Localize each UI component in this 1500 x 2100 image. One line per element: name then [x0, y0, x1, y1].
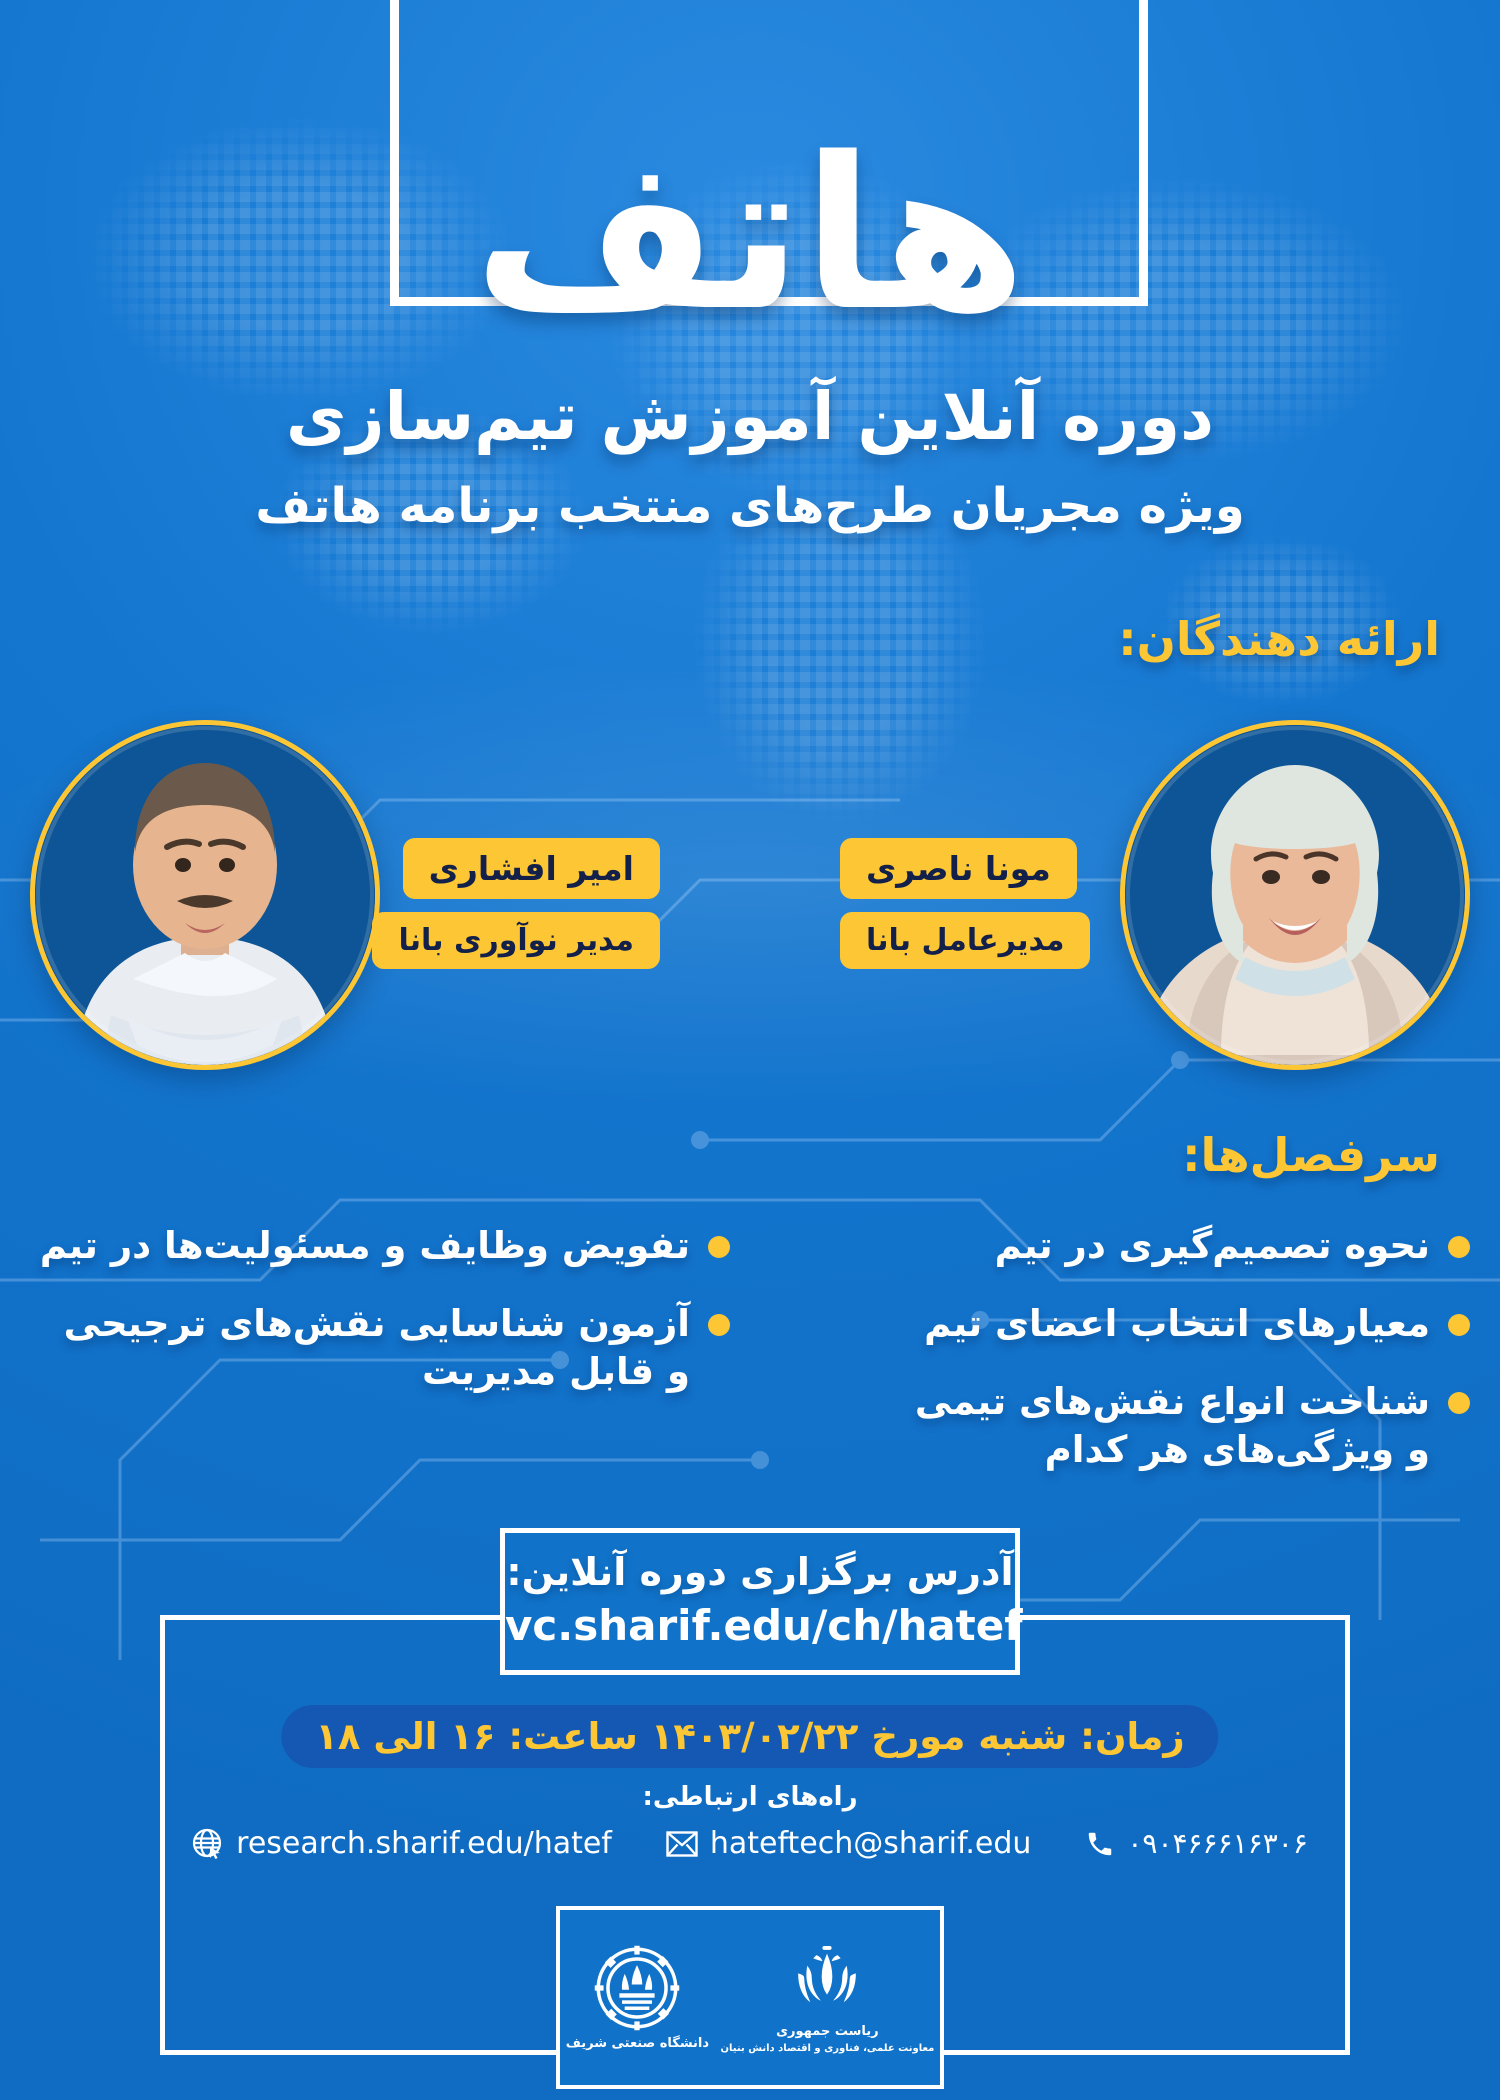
bullet-dot-icon [1448, 1314, 1470, 1336]
contact-section-label: راه‌های ارتباطی: [0, 1782, 1500, 1812]
topics-column-right: نحوه تصمیم‌گیری در تیم معیارهای انتخاب ا… [770, 1222, 1470, 1504]
avatar [30, 720, 380, 1070]
sharif-university-icon [593, 1944, 681, 2032]
topic-text: آزمون شناسایی نقش‌های ترجیحیو قابل مدیری… [64, 1300, 690, 1396]
sharif-caption: دانشگاه صنعتی شریف [566, 2036, 709, 2051]
topic-text: تفویض وظایف و مسئولیت‌ها در تیم [40, 1222, 690, 1270]
phone-icon [1085, 1829, 1115, 1859]
online-address-box: آدرس برگزاری دوره آنلاین: vc.sharif.edu/… [500, 1528, 1020, 1675]
presenter-role: مدیر نوآوری بانا [372, 912, 660, 969]
topic-text: شناخت انواع نقش‌های تیمیو ویژگی‌های هر ک… [915, 1378, 1430, 1474]
presenter-badges: مونا ناصری مدیرعامل بانا [840, 838, 1140, 982]
logo-sharif-university: دانشگاه صنعتی شریف [566, 1944, 709, 2051]
contact-website[interactable]: research.sharif.edu/hatef [192, 1826, 612, 1861]
presenter-name: مونا ناصری [840, 838, 1077, 899]
envelope-icon [666, 1831, 698, 1857]
topic-text: معیارهای انتخاب اعضای تیم [924, 1300, 1430, 1348]
bullet-dot-icon [708, 1236, 730, 1258]
vice-presidency-caption-2: معاونت علمی، فناوری و اقتصاد دانش بنیان [721, 2043, 935, 2054]
email-address: hateftech@sharif.edu [710, 1826, 1032, 1861]
bullet-dot-icon [1448, 1236, 1470, 1258]
poster-title-primary: دوره آنلاین آموزش تیم‌سازی [0, 378, 1500, 456]
presenter-card-mona-naseri: مونا ناصری مدیرعامل بانا [830, 720, 1470, 1080]
presenter-role: مدیرعامل بانا [840, 912, 1090, 969]
topic-text: نحوه تصمیم‌گیری در تیم [995, 1222, 1430, 1270]
bullet-dot-icon [1448, 1392, 1470, 1414]
vice-presidency-caption-1: ریاست جمهوری [776, 2024, 879, 2039]
poster-header: هاتف دوره آنلاین آموزش تیم‌سازی ویژه مجر… [0, 0, 1500, 600]
globe-icon [192, 1828, 224, 1860]
presenter-photo-icon [1125, 725, 1465, 1065]
contact-row: ۰۹۰۴۶۶۶۱۶۳۰۶ hateftech@sharif.edu resear… [0, 1826, 1500, 1861]
poster-title-secondary: ویژه مجریان طرح‌های منتخب برنامه هاتف [0, 478, 1500, 536]
list-item: شناخت انواع نقش‌های تیمیو ویژگی‌های هر ک… [770, 1378, 1470, 1474]
presenter-photo-icon [35, 725, 375, 1065]
list-item: معیارهای انتخاب اعضای تیم [770, 1300, 1470, 1348]
list-item: آزمون شناسایی نقش‌های ترجیحیو قابل مدیری… [30, 1300, 730, 1396]
logo-vice-presidency: ریاست جمهوری معاونت علمی، فناوری و اقتصا… [721, 1942, 935, 2054]
online-address-label: آدرس برگزاری دوره آنلاین: [505, 1549, 1015, 1597]
topics-lists: نحوه تصمیم‌گیری در تیم معیارهای انتخاب ا… [30, 1222, 1470, 1504]
website-url: research.sharif.edu/hatef [236, 1826, 612, 1861]
schedule-badge: زمان: شنبه مورخ ۱۴۰۳/۰۲/۲۲ ساعت: ۱۶ الی … [281, 1705, 1218, 1768]
list-item: تفویض وظایف و مسئولیت‌ها در تیم [30, 1222, 730, 1270]
avatar [1120, 720, 1470, 1070]
contact-phone[interactable]: ۰۹۰۴۶۶۶۱۶۳۰۶ [1085, 1827, 1307, 1860]
presenters-section-label: ارائه دهندگان: [1118, 612, 1440, 666]
bullet-dot-icon [708, 1314, 730, 1336]
iran-emblem-icon [789, 1942, 865, 2020]
footer-logo-strip: دانشگاه صنعتی شریف ریاست جمهوری معاونت ع… [556, 1906, 944, 2089]
presenter-name: امیر افشاری [403, 838, 660, 899]
topics-section-label: سرفصل‌ها: [1182, 1128, 1440, 1182]
presenter-badges: امیر افشاری مدیر نوآوری بانا [360, 838, 660, 982]
presenter-card-amir-afshari: امیر افشاری مدیر نوآوری بانا [30, 720, 670, 1080]
list-item: نحوه تصمیم‌گیری در تیم [770, 1222, 1470, 1270]
hatef-logo-wordmark: هاتف [0, 130, 1500, 340]
online-address-url[interactable]: vc.sharif.edu/ch/hatef [505, 1601, 1015, 1650]
topics-column-left: تفویض وظایف و مسئولیت‌ها در تیم آزمون شن… [30, 1222, 730, 1426]
contact-email[interactable]: hateftech@sharif.edu [666, 1826, 1032, 1861]
phone-number: ۰۹۰۴۶۶۶۱۶۳۰۶ [1127, 1827, 1307, 1860]
